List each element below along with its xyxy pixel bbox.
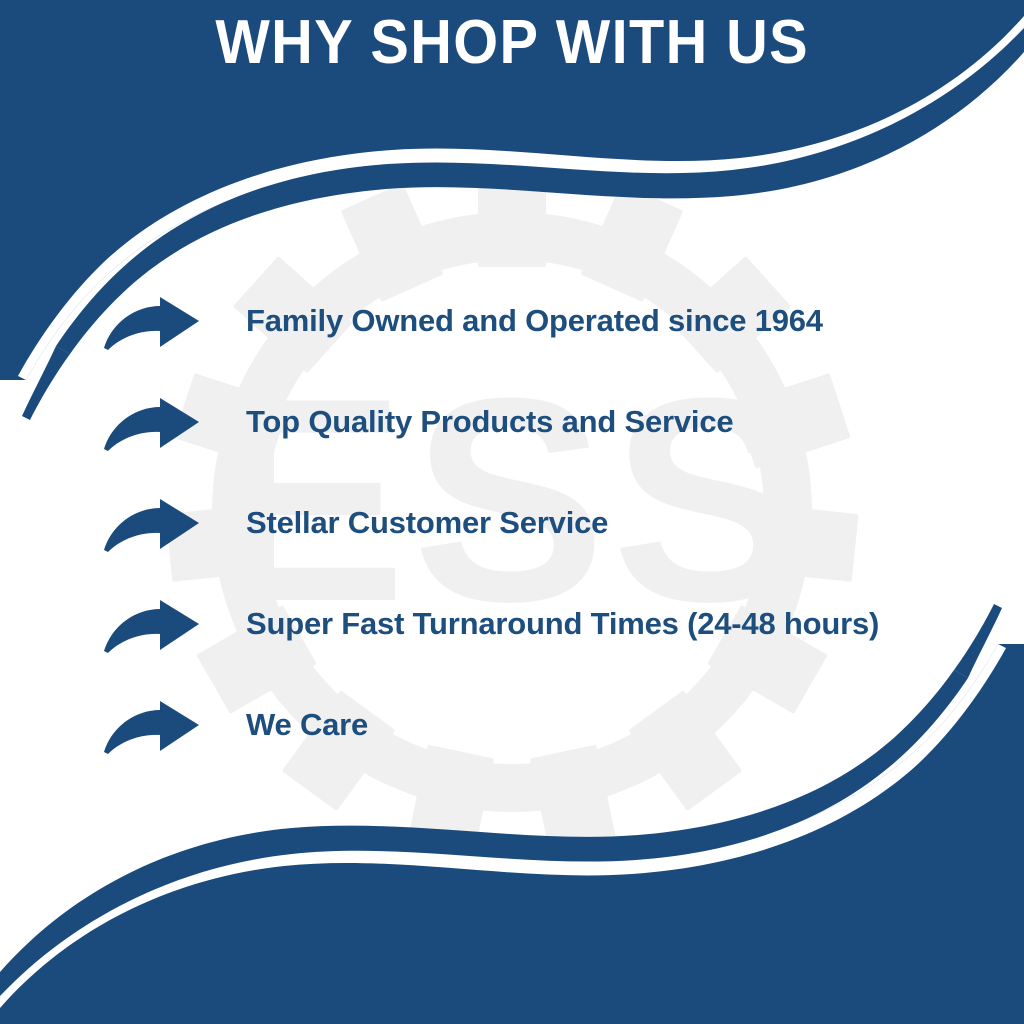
list-item-label: Family Owned and Operated since 1964 (246, 299, 962, 343)
list-item-label: We Care (246, 703, 962, 747)
curved-arrow-icon (102, 700, 202, 756)
list-item: We Care (102, 700, 962, 801)
list-item-label: Stellar Customer Service (246, 501, 962, 545)
list-item-label: Super Fast Turnaround Times (24-48 hours… (246, 602, 962, 646)
curved-arrow-icon (102, 599, 202, 655)
page-title: WHY SHOP WITH US (215, 0, 809, 74)
list-item-label: Top Quality Products and Service (246, 400, 962, 444)
list-item: Top Quality Products and Service (102, 397, 962, 498)
list-item: Stellar Customer Service (102, 498, 962, 599)
curved-arrow-icon (102, 498, 202, 554)
why-shop-with-us-graphic: ESS (0, 0, 1024, 1024)
header-banner: WHY SHOP WITH US (0, 0, 1024, 100)
benefits-list: Family Owned and Operated since 1964 Top… (102, 296, 962, 801)
curved-arrow-icon (102, 296, 202, 352)
curved-arrow-icon (102, 397, 202, 453)
list-item: Super Fast Turnaround Times (24-48 hours… (102, 599, 962, 700)
list-item: Family Owned and Operated since 1964 (102, 296, 962, 397)
